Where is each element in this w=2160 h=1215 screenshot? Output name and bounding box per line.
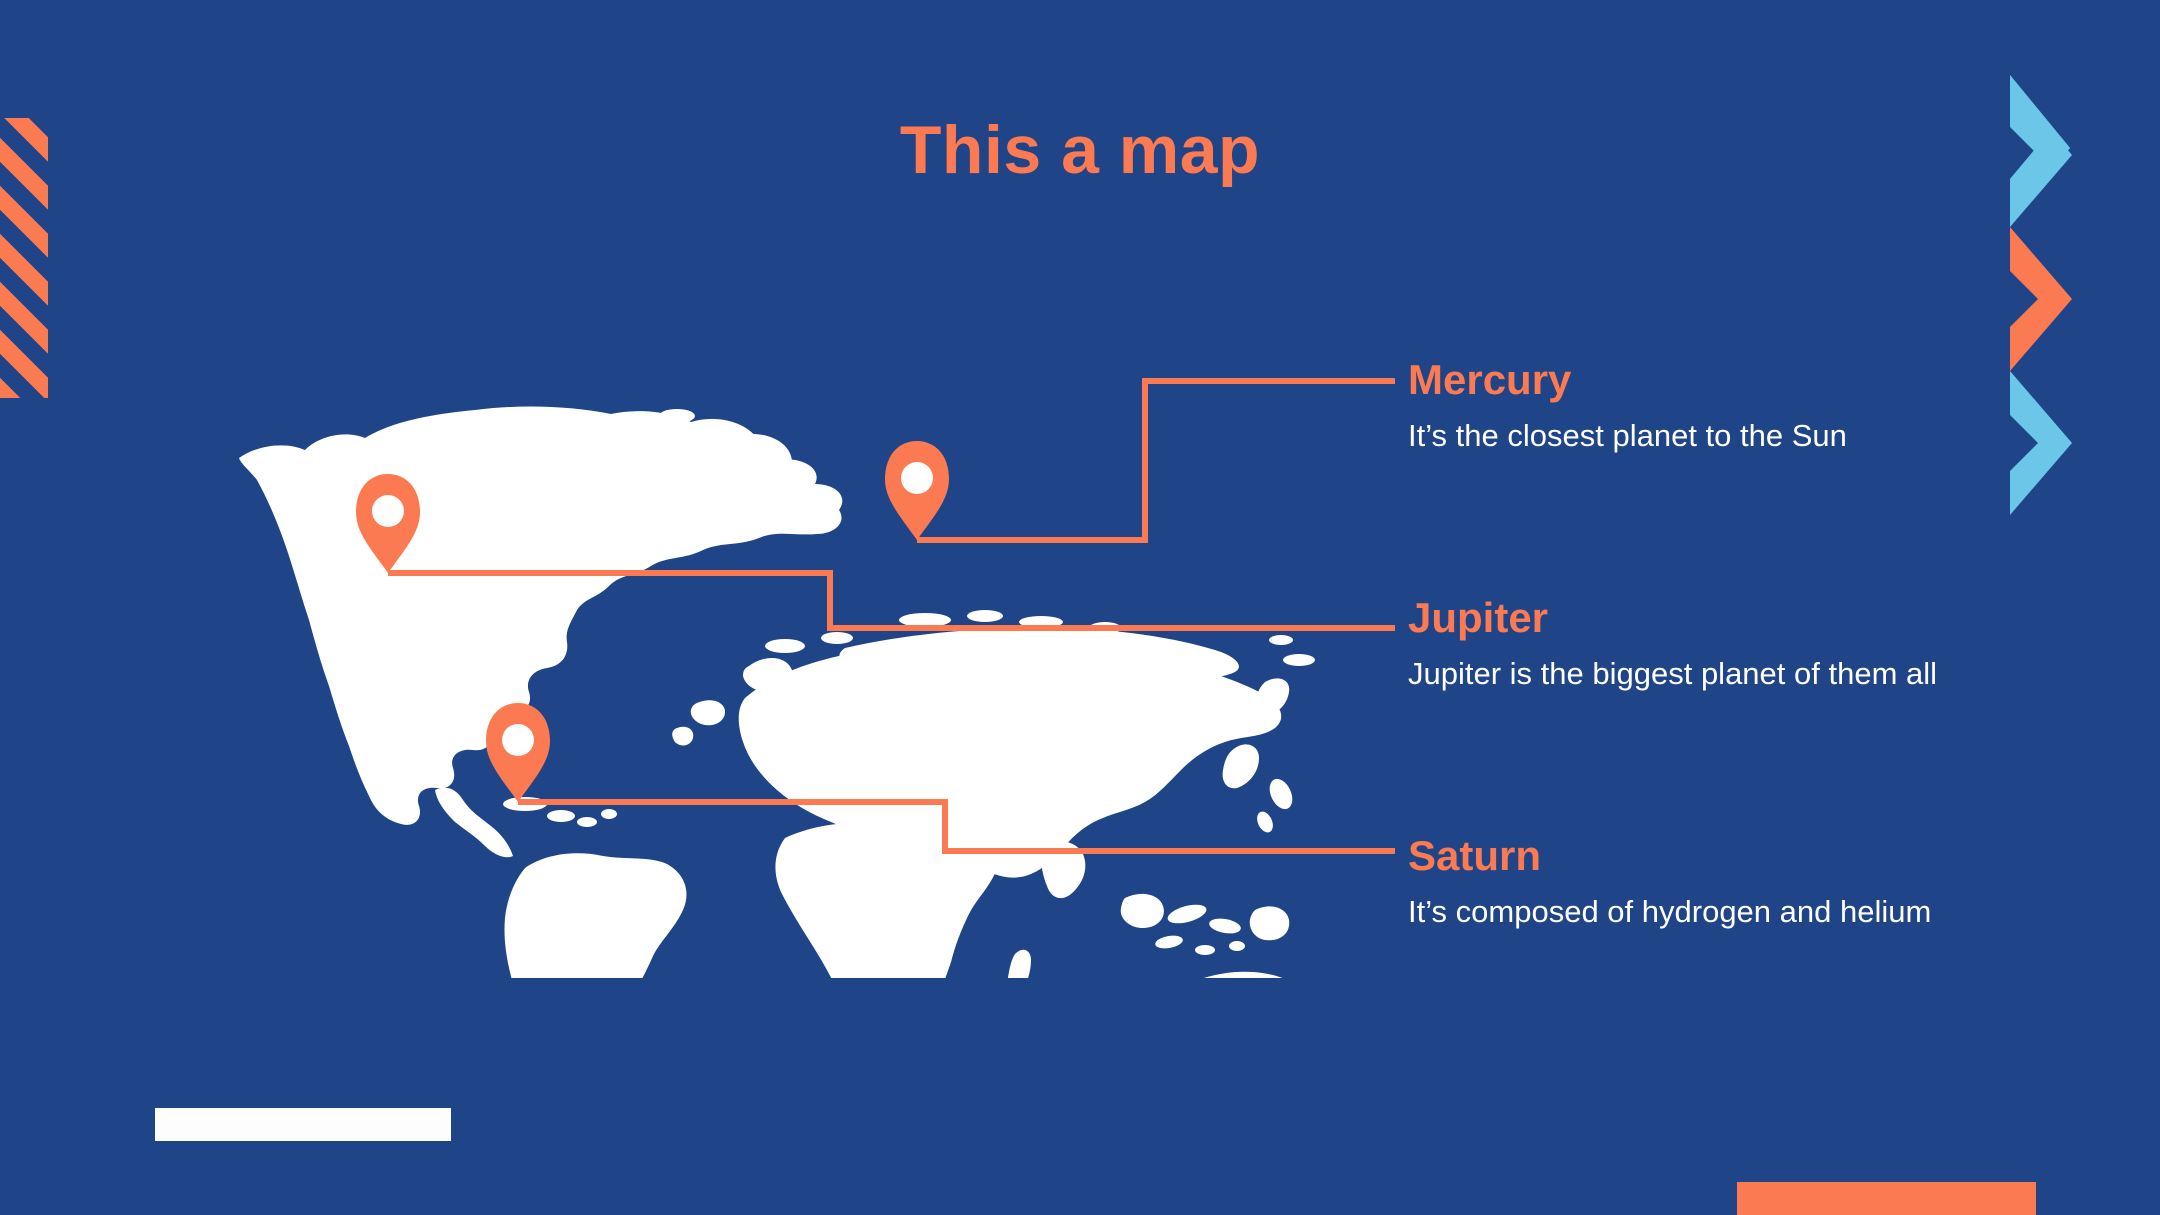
- info-body-saturn: It’s composed of hydrogen and helium: [1408, 892, 1948, 932]
- info-block-jupiter: Jupiter Jupiter is the biggest planet of…: [1408, 596, 1948, 694]
- orange-bar-decoration: [1737, 1182, 2036, 1215]
- page-title: This a map: [0, 116, 2160, 184]
- info-body-mercury: It’s the closest planet to the Sun: [1408, 416, 1948, 456]
- world-map: [225, 398, 1315, 978]
- chevron-bottom: [2010, 371, 2072, 515]
- info-block-saturn: Saturn It’s composed of hydrogen and hel…: [1408, 834, 1948, 932]
- info-heading-mercury: Mercury: [1408, 358, 1948, 402]
- chevron-middle: [2010, 227, 2072, 371]
- white-bar-decoration: [155, 1108, 451, 1141]
- info-block-mercury: Mercury It’s the closest planet to the S…: [1408, 358, 1948, 456]
- info-body-jupiter: Jupiter is the biggest planet of them al…: [1408, 654, 1948, 694]
- info-heading-jupiter: Jupiter: [1408, 596, 1948, 640]
- info-heading-saturn: Saturn: [1408, 834, 1948, 878]
- slide-canvas: This a map: [0, 0, 2160, 1215]
